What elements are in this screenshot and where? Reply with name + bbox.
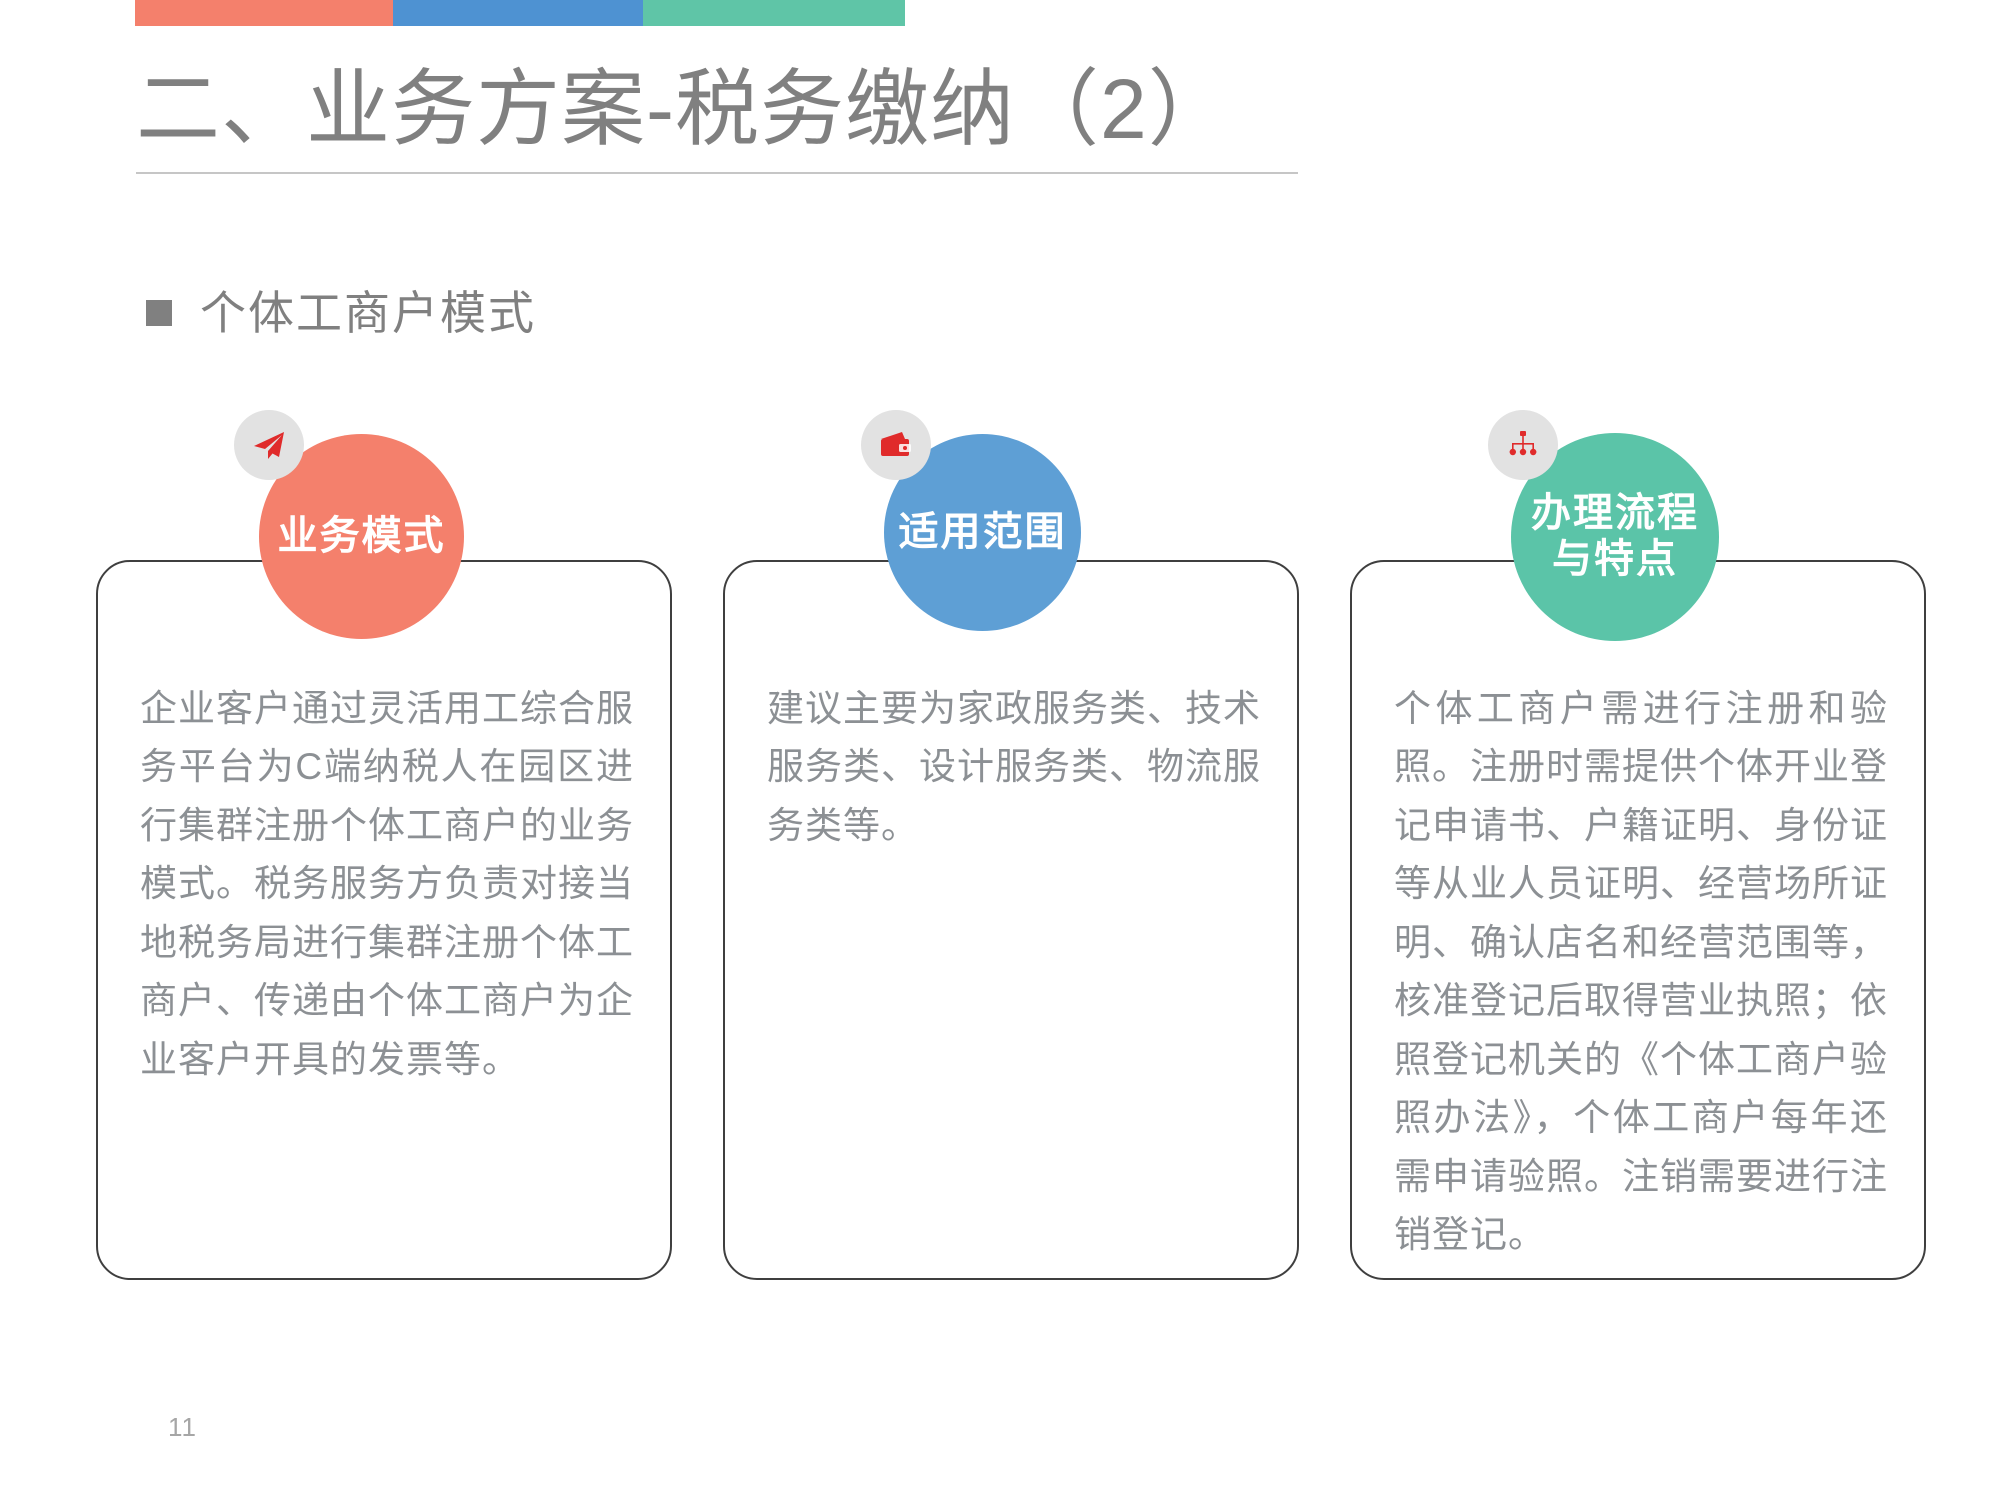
header-bar-salmon (135, 0, 393, 26)
square-bullet-icon (146, 300, 172, 326)
badge-label: 业务模式 (278, 514, 446, 560)
badge-label-multiline: 办理流程 与特点 (1531, 491, 1699, 582)
wallet-folder-icon (861, 410, 931, 480)
badge-label-line1: 办理流程 (1531, 491, 1699, 535)
subtitle-label: 个体工商户模式 (200, 290, 536, 336)
cards-row: 业务模式 企业客户通过灵活用工综合服务平台为C端纳税人在园区进行集群注册个体工商… (0, 560, 2000, 1290)
subtitle-row: 个体工商户模式 (146, 290, 536, 336)
badge-label: 适用范围 (899, 510, 1067, 556)
page-title: 二、业务方案-税务缴纳（2） (136, 62, 1296, 158)
card-body-text: 建议主要为家政服务类、技术服务类、设计服务类、物流服务类等。 (767, 680, 1261, 855)
header-color-bars (135, 0, 905, 26)
page-number: 11 (168, 1412, 197, 1443)
card-applicable-scope[interactable]: 适用范围 建议主要为家政服务类、技术服务类、设计服务类、物流服务类等。 (723, 560, 1299, 1280)
card-process-and-features[interactable]: 办理流程 与特点 个体工商户需进行注册和验照。注册时需提供个体开业登记申请书、户… (1350, 560, 1926, 1280)
header-bar-blue (393, 0, 643, 26)
card-outline (723, 560, 1299, 1280)
card-business-model[interactable]: 业务模式 企业客户通过灵活用工综合服务平台为C端纳税人在园区进行集群注册个体工商… (96, 560, 672, 1280)
title-divider (136, 172, 1298, 174)
paper-plane-icon (234, 410, 304, 480)
card-body-text: 个体工商户需进行注册和验照。注册时需提供个体开业登记申请书、户籍证明、身份证等从… (1394, 680, 1888, 1265)
org-chart-icon (1488, 410, 1558, 480)
card-body-text: 企业客户通过灵活用工综合服务平台为C端纳税人在园区进行集群注册个体工商户的业务模… (140, 680, 634, 1089)
badge-label-line2: 与特点 (1552, 537, 1678, 581)
header-bar-teal (643, 0, 905, 26)
title-block: 二、业务方案-税务缴纳（2） (136, 62, 1296, 174)
